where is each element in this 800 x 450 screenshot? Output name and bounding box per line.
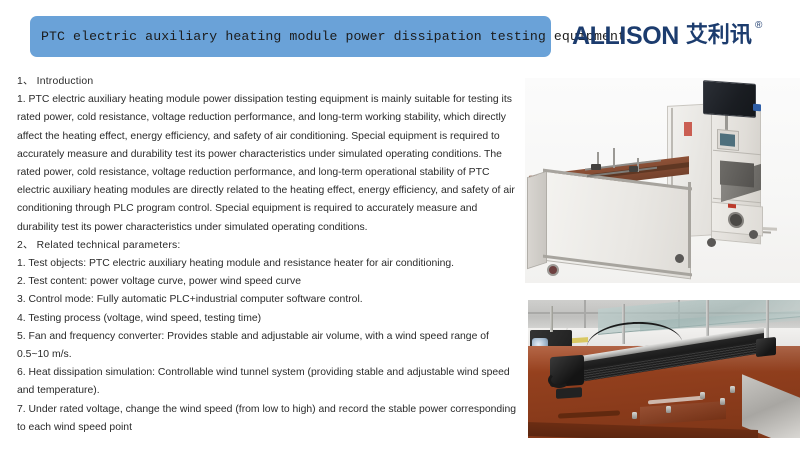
warning-label [684, 122, 692, 136]
mounting-rod [550, 306, 553, 332]
page-header: PTC electric auxiliary heating module po… [0, 0, 800, 72]
caster-wheel [749, 230, 758, 239]
bench-bolt [720, 398, 725, 405]
page-title: PTC electric auxiliary heating module po… [41, 29, 626, 44]
registered-trademark-icon: ® [755, 21, 762, 31]
bench-bolt [700, 392, 705, 399]
sensor-block [629, 166, 638, 172]
hmi-touchscreen [720, 133, 735, 146]
paragraph-param-4: 4. Testing process (voltage, wind speed,… [17, 310, 517, 328]
bench-bolt [632, 412, 637, 419]
brand-name-en: ALLISON [572, 23, 679, 49]
paragraph-param-2: 2. Test content: power voltage curve, po… [17, 273, 517, 291]
frame-rail-right [688, 182, 691, 268]
paragraph-param-3: 3. Control mode: Fully automatic PLC+ind… [17, 291, 517, 309]
monitor-badge [753, 104, 761, 112]
heater-end-cap-right [756, 337, 776, 357]
title-banner: PTC electric auxiliary heating module po… [30, 16, 551, 57]
paragraph-params-heading: 2、 Related technical parameters: [17, 237, 517, 255]
equipment-photo-full-system [525, 78, 800, 283]
fixture-post [613, 148, 615, 168]
caster-wheel [675, 254, 684, 263]
description-content: 1、 Introduction 1. PTC electric auxiliar… [17, 73, 517, 437]
paragraph-param-1: 1. Test objects: PTC electric auxiliary … [17, 255, 517, 273]
indicator-label [728, 204, 736, 209]
monitor-screen [703, 80, 756, 118]
paragraph-param-7: 7. Under rated voltage, change the wind … [17, 401, 517, 437]
brand-name-cn: 艾利讯 [686, 23, 752, 49]
equipment-drawer [720, 161, 754, 188]
equipment-photo-module-closeup [528, 300, 800, 438]
paragraph-param-5: 5. Fan and frequency converter: Provides… [17, 328, 517, 364]
wall-seam [584, 300, 586, 330]
sensor-block [591, 164, 601, 170]
caster-wheel [547, 264, 559, 276]
power-cable [548, 372, 570, 388]
paragraph-intro-heading: 1、 Introduction [17, 73, 517, 91]
caster-wheel [707, 238, 716, 247]
brand-logo: ALLISON 艾利讯 ® [572, 23, 762, 49]
bench-bolt [730, 386, 735, 393]
paragraph-intro-body: 1. PTC electric auxiliary heating module… [17, 91, 517, 237]
heater-mount-foot [556, 387, 582, 399]
bench-bolt [666, 406, 671, 413]
mounting-rod [766, 300, 769, 338]
paragraph-param-6: 6. Heat dissipation simulation: Controll… [17, 364, 517, 400]
